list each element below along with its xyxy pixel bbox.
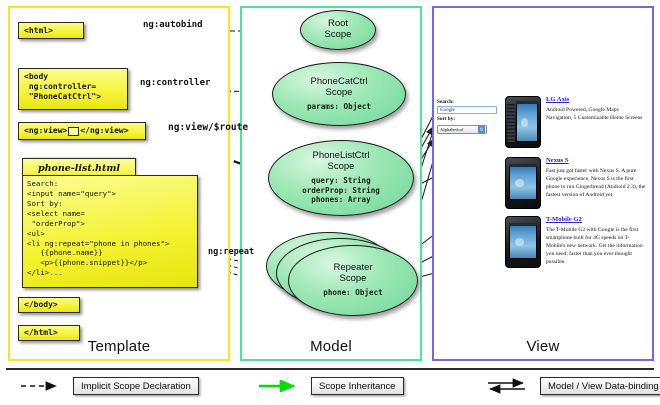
phone-list-item[interactable]: T-Mobile G2 The T-Mobile G2 with Google … xyxy=(505,216,646,268)
edge-label-ng-autobind: ng:autobind xyxy=(143,20,203,30)
phone-thumbnail-icon xyxy=(505,216,541,268)
sort-label: Sort by: xyxy=(437,116,499,122)
search-label: Search: xyxy=(437,99,499,105)
template-file-code: Search: <input name="query"> Sort by: <s… xyxy=(22,175,198,288)
sort-select[interactable]: Alphabetical ⇅ xyxy=(437,125,487,134)
dashed-arrow-icon xyxy=(20,380,66,392)
view-search-form: Search: Google Sort by: Alphabetical ⇅ xyxy=(437,99,499,134)
code-box-html-close: </html> xyxy=(18,325,80,341)
legend: Implicit Scope Declaration Scope Inherit… xyxy=(0,368,660,405)
phone-list-item[interactable]: LG Axis Android Powered, Google Maps Nav… xyxy=(505,96,646,148)
legend-divider xyxy=(6,368,654,370)
legend-item-implicit-scope: Implicit Scope Declaration xyxy=(20,377,199,395)
sort-select-value: Alphabetical xyxy=(440,127,463,132)
phone-description: Android Powered, Google Maps Navigation,… xyxy=(546,106,646,122)
phone-name-link[interactable]: T-Mobile G2 xyxy=(546,216,646,223)
edge-label-ng-repeat: ng:repeat xyxy=(208,247,254,257)
phone-thumbnail-icon xyxy=(505,157,541,209)
phone-list-item[interactable]: Nexus S Fast just got faster with Nexus … xyxy=(505,157,646,209)
phone-name-link[interactable]: Nexus S xyxy=(546,157,646,164)
panel-label-view: View xyxy=(434,338,652,355)
template-file-card: phone-list.html Search: <input name="que… xyxy=(22,158,198,288)
scope-repeater: Repeater Scope phone: Object xyxy=(288,245,418,316)
scope-phonecatctrl-props: params: Object xyxy=(307,102,371,111)
scope-phonelistctrl-props: query: String orderProp: String phones: … xyxy=(302,176,380,204)
legend-label: Implicit Scope Declaration xyxy=(73,377,199,395)
chevron-updown-icon: ⇅ xyxy=(478,126,485,133)
phone-name-link[interactable]: LG Axis xyxy=(546,96,646,103)
code-box-html-open: <html> xyxy=(18,22,84,39)
phone-description: Fast just got faster with Nexus S. A pur… xyxy=(546,167,646,199)
double-arrow-icon xyxy=(487,378,533,394)
scope-repeater-title: Repeater Scope xyxy=(333,263,372,285)
green-arrow-icon xyxy=(258,380,304,392)
scope-phonelistctrl: PhoneListCtrl Scope query: String orderP… xyxy=(268,140,414,216)
code-box-body-close: </body> xyxy=(18,297,80,313)
legend-label: Model / View Data-binding xyxy=(540,377,660,395)
diagram-canvas: Template Model View <html> <body ng:cont… xyxy=(0,0,660,405)
scope-phonecatctrl: PhoneCatCtrl Scope params: Object xyxy=(272,62,406,126)
legend-item-data-binding: Model / View Data-binding xyxy=(487,377,660,395)
code-box-ng-view: <ng:view></ng:view> xyxy=(18,122,146,140)
scope-repeater-props: phone: Object xyxy=(323,288,382,297)
code-box-body-open: <body ng:controller= "PhoneCatCtrl"> xyxy=(18,68,128,110)
scope-root: Root Scope xyxy=(300,10,376,50)
ng-view-close-tag: </ng:view> xyxy=(80,126,128,136)
phone-thumbnail-icon xyxy=(505,96,541,148)
scope-phonecatctrl-title: PhoneCatCtrl Scope xyxy=(310,77,367,99)
scope-repeater-stack: Repeater Scope phone: Object xyxy=(266,232,416,314)
scope-phonelistctrl-title: PhoneListCtrl Scope xyxy=(312,151,369,173)
phone-description: The T-Mobile G2 with Google is the first… xyxy=(546,226,646,267)
edge-label-ng-view-route: ng:view/$route xyxy=(168,122,248,133)
legend-item-scope-inheritance: Scope Inheritance xyxy=(258,377,404,395)
panel-label-model: Model xyxy=(242,338,420,355)
ng-view-open-tag: <ng:view> xyxy=(24,126,67,136)
legend-label: Scope Inheritance xyxy=(311,377,404,395)
edge-label-ng-controller: ng:controller xyxy=(140,78,210,88)
scope-root-title: Root Scope xyxy=(325,19,352,41)
ng-view-placeholder-slot xyxy=(68,127,79,136)
search-input[interactable]: Google xyxy=(437,106,497,114)
